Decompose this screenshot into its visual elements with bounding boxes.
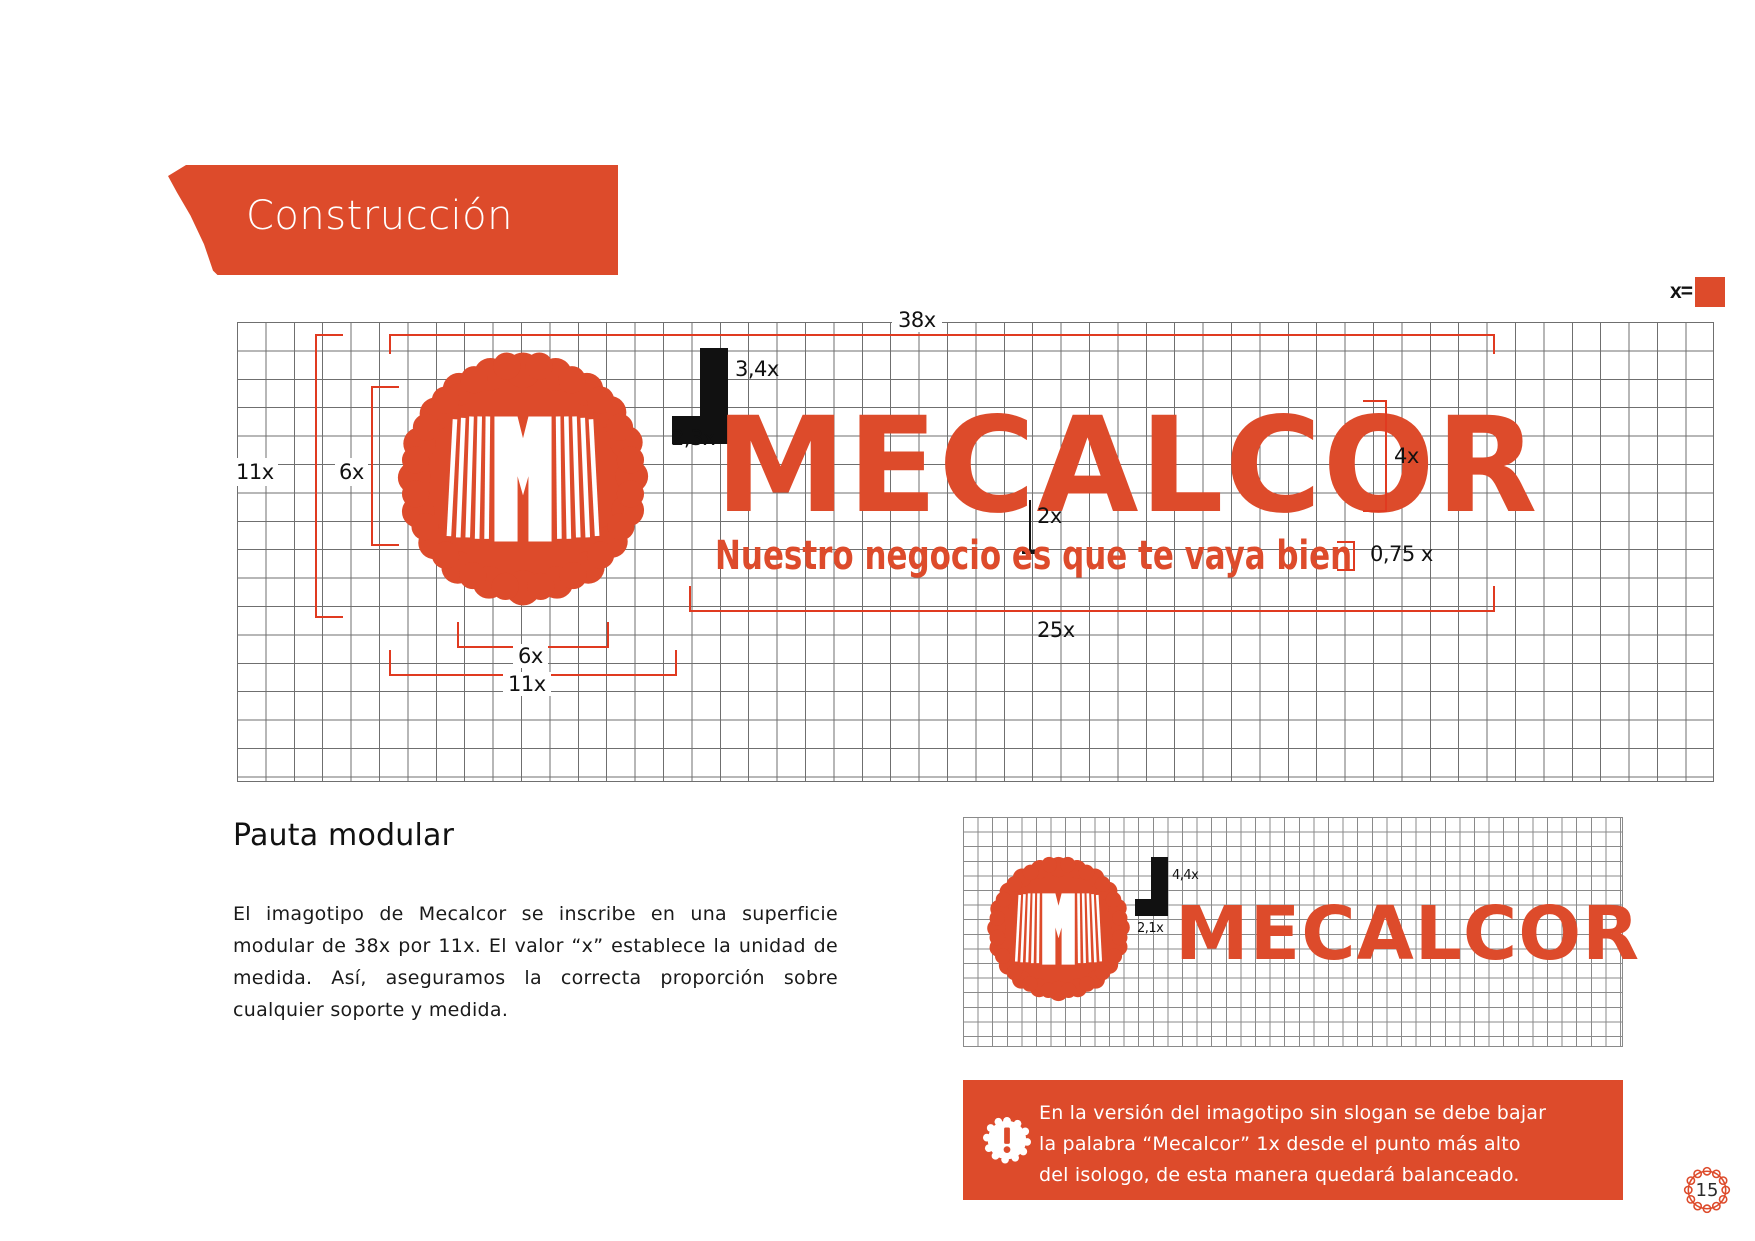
isologo-badge-secondary (981, 845, 1136, 1013)
warning-note-line-1: En la versión del imagotipo sin slogan s… (1039, 1098, 1609, 1129)
unit-legend: x= (1670, 277, 1725, 307)
page-number-badge: 15 (1681, 1164, 1733, 1216)
warning-note-text: En la versión del imagotipo sin slogan s… (1039, 1098, 1609, 1191)
page-root: Construcción x= 38x 11x 6x (0, 0, 1755, 1241)
isologo-badge-main (387, 334, 659, 624)
clearance-marker-secondary (1135, 857, 1177, 931)
measure-label-3-4x: 3,4x (735, 357, 779, 381)
bracket-0-75x (1337, 541, 1355, 571)
measure-label-25x: 25x (1037, 618, 1075, 642)
measure-label-6x-height: 6x (335, 458, 368, 486)
measure-label-0-75x: 0,75 x (1370, 542, 1433, 566)
exclamation-icon (983, 1116, 1031, 1164)
construction-grid-secondary: 4,4x 2,1x MECALCOR (963, 817, 1623, 1047)
measure-label-38x: 38x (892, 308, 942, 332)
warning-note-box: En la versión del imagotipo sin slogan s… (963, 1080, 1623, 1200)
measure-label-2-3x: 2,3x (671, 426, 715, 450)
section-body-text: El imagotipo de Mecalcor se inscribe en … (233, 898, 838, 1026)
measure-label-2x: 2x (1037, 504, 1062, 528)
warning-note-line-2: la palabra “Mecalcor” 1x desde el punto … (1039, 1129, 1609, 1160)
bracket-4x (1363, 400, 1387, 512)
page-number-value: 15 (1681, 1164, 1733, 1216)
unit-legend-swatch (1695, 277, 1725, 307)
section-subtitle: Pauta modular (233, 818, 454, 853)
measure-label-4-4x: 4,4x (1172, 868, 1198, 883)
slogan-main: Nuestro negocio es que te vaya bien (715, 536, 1352, 576)
measure-label-11x-bottom: 11x (503, 672, 551, 696)
bracket-25x (689, 586, 1495, 612)
wordmark-mecalcor-secondary: MECALCOR (1175, 897, 1640, 971)
warning-note-line-3: del isologo, de esta manera quedará bala… (1039, 1160, 1609, 1191)
page-title: Construcción (246, 193, 513, 239)
measure-label-4x: 4x (1394, 444, 1419, 468)
unit-legend-label: x= (1670, 280, 1692, 304)
construction-grid-main: 38x 11x 6x (237, 322, 1714, 782)
measure-label-2-1x: 2,1x (1137, 921, 1163, 936)
measure-label-11x-left: 11x (232, 458, 278, 486)
clearance-marker-horizontal-bar-secondary (1135, 899, 1168, 916)
section-banner: Construcción (168, 165, 618, 275)
